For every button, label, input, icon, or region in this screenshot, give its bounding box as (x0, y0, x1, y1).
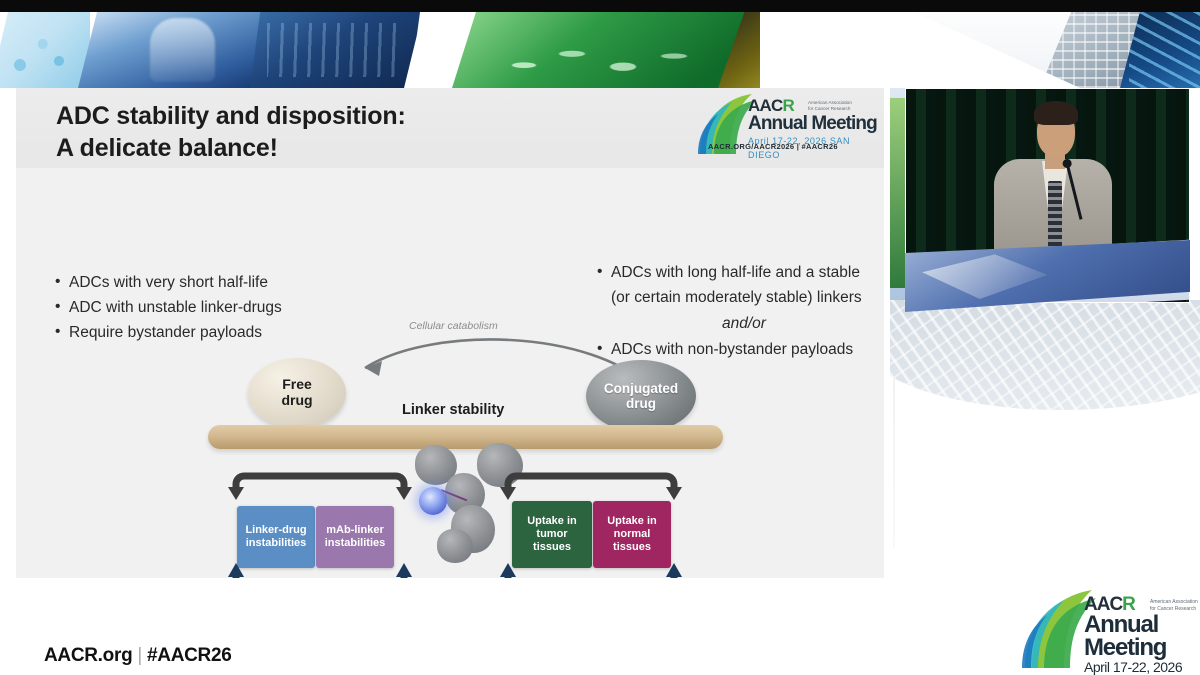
meeting-word: Meeting (1084, 637, 1182, 660)
aacr-association-name: American Association for Cancer Research (1150, 599, 1200, 613)
banner-black-bar (0, 0, 1200, 12)
corner-meeting-dates: April 17-22, 2026 (1084, 659, 1182, 675)
banner-image-vials (452, 12, 752, 88)
annual-meeting-wordmark: Annual Meeting (748, 113, 878, 135)
top-banner (0, 0, 1200, 88)
list-item: ADCs with long half-life and a stable (594, 260, 884, 285)
footer-site: AACR.org (44, 645, 132, 666)
page-title: ADC stability and disposition: A delicat… (56, 100, 406, 164)
aacr-annual-meeting-logo: AACR American Association for Cancer Res… (698, 92, 878, 164)
box-linker-drug-instabilities[interactable]: Linker-drug instabilities (237, 506, 315, 568)
lower-decor-image (905, 240, 1190, 312)
aacr-url-line: AACR.ORG/AACR2026 | #AACR26 (708, 142, 838, 151)
footer-separator: | (132, 645, 147, 666)
footer-hashtag: #AACR26 (147, 645, 232, 666)
banner-image-lab-bench (250, 12, 420, 88)
footer-branding: AACR.org|#AACR26 (44, 645, 232, 667)
webcast-stage: ADC stability and disposition: A delicat… (0, 0, 1200, 675)
box-connector-arrows-bottom (226, 560, 686, 578)
corner-logo-text: AACR American Association for Cancer Res… (1084, 594, 1182, 675)
box-connector-arrows-top (226, 470, 686, 504)
aacr-logo-text: AACR American Association for Cancer Res… (748, 96, 878, 161)
box-mab-linker-instabilities[interactable]: mAb-linker instabilities (316, 506, 394, 568)
corner-aacr-logo: AACR American Association for Cancer Res… (1022, 588, 1200, 675)
banner-image-molecules (0, 12, 90, 88)
box-uptake-normal-tissues[interactable]: Uptake in normal tissues (593, 501, 671, 568)
conjugated-drug-weight: Conjugated drug (586, 360, 696, 432)
list-item: ADCs with very short half-life (52, 270, 382, 295)
grey-texture-band (890, 300, 1200, 410)
presentation-slide[interactable]: ADC stability and disposition: A delicat… (16, 88, 884, 578)
banner-image-scientist (78, 12, 268, 88)
free-drug-weight: Free drug (248, 358, 346, 428)
speaker-hair (1034, 101, 1078, 125)
balance-diagram: Cellular catabolism Free drug Conjugated… (16, 298, 884, 568)
slide-title-line-1: ADC stability and disposition: (56, 100, 406, 132)
slide-title-line-2: A delicate balance! (56, 132, 406, 164)
aacr-association-name: American Association for Cancer Research (808, 100, 878, 112)
linker-stability-label: Linker stability (402, 402, 504, 418)
box-uptake-tumor-tissues[interactable]: Uptake in tumor tissues (512, 501, 592, 568)
